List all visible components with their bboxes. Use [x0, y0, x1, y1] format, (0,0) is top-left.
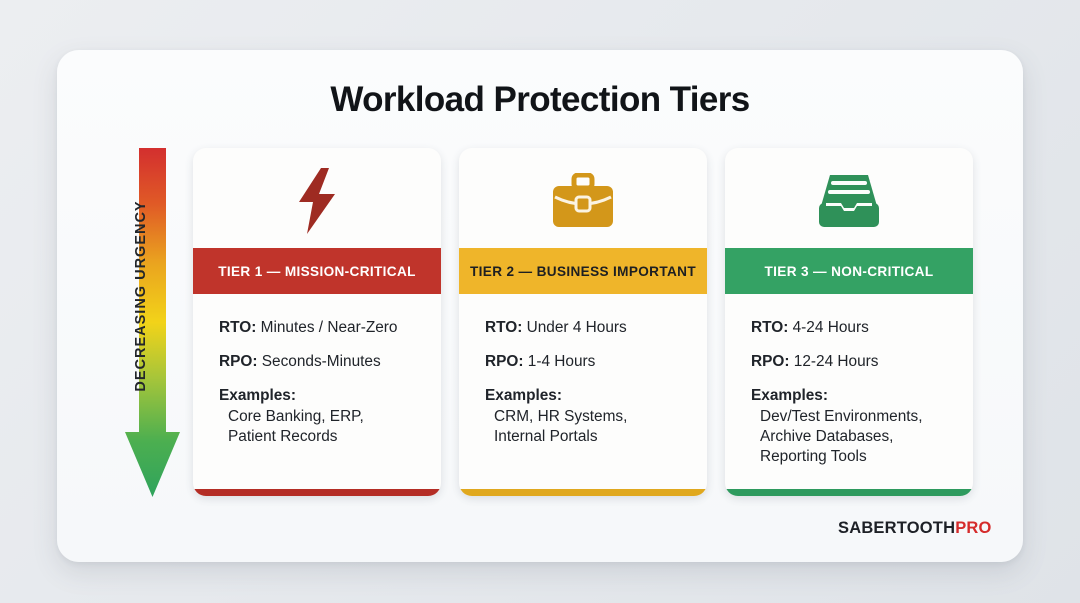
- tier-1-header: TIER 1 — MISSION-CRITICAL: [193, 248, 441, 294]
- tier-3-header: TIER 3 — NON-CRITICAL: [725, 248, 973, 294]
- tier-2-body: RTO: Under 4 Hours RPO: 1-4 Hours Exampl…: [459, 294, 707, 489]
- tier-3-body: RTO: 4-24 Hours RPO: 12-24 Hours Example…: [725, 294, 973, 489]
- tier-1-example-line: Core Banking, ERP,: [219, 407, 441, 427]
- logo-accent: PRO: [955, 519, 991, 537]
- rto-label: RTO:: [485, 319, 522, 336]
- tier-3-rto-row: RTO: 4-24 Hours: [751, 318, 973, 337]
- rpo-label: RPO:: [751, 353, 789, 370]
- tier-2-rto-value: Under 4 Hours: [527, 319, 627, 336]
- examples-label: Examples:: [751, 387, 973, 405]
- tier-3-rpo-value: 12-24 Hours: [794, 353, 879, 370]
- page-title: Workload Protection Tiers: [0, 80, 1080, 120]
- lightning-bolt-icon: [291, 168, 343, 234]
- rpo-label: RPO:: [219, 353, 257, 370]
- tier-2-rpo-value: 1-4 Hours: [528, 353, 596, 370]
- tier-card-3[interactable]: TIER 3 — NON-CRITICAL RTO: 4-24 Hours RP…: [725, 148, 973, 496]
- tier-2-rto-row: RTO: Under 4 Hours: [485, 318, 707, 337]
- tier-3-accent-strip: [725, 489, 973, 496]
- tier-3-example-line: Archive Databases,: [751, 427, 973, 447]
- tier-1-example-line: Patient Records: [219, 427, 441, 447]
- decreasing-urgency-arrow: DECREASING URGENCY: [95, 148, 190, 500]
- tier-3-example-line: Reporting Tools: [751, 447, 973, 467]
- rpo-label: RPO:: [485, 353, 523, 370]
- tier-2-rpo-row: RPO: 1-4 Hours: [485, 352, 707, 371]
- infographic-canvas: Workload Protection Tiers DECREASING URG…: [0, 0, 1080, 603]
- tier-3-rto-value: 4-24 Hours: [793, 319, 869, 336]
- tier-1-body: RTO: Minutes / Near-Zero RPO: Seconds-Mi…: [193, 294, 441, 489]
- arrow-label: DECREASING URGENCY: [133, 166, 149, 426]
- briefcase-icon: [551, 173, 615, 229]
- tier-2-icon-area: [459, 148, 707, 248]
- rto-label: RTO:: [751, 319, 788, 336]
- brand-logo: SABERTOOTHPRO: [838, 519, 992, 538]
- tier-3-example-line: Dev/Test Environments,: [751, 407, 973, 427]
- tier-card-2[interactable]: TIER 2 — BUSINESS IMPORTANT RTO: Under 4…: [459, 148, 707, 496]
- tier-1-rpo-value: Seconds-Minutes: [262, 353, 381, 370]
- tier-2-example-line: Internal Portals: [485, 427, 707, 447]
- rto-label: RTO:: [219, 319, 256, 336]
- tier-card-1[interactable]: TIER 1 — MISSION-CRITICAL RTO: Minutes /…: [193, 148, 441, 496]
- tier-2-example-line: CRM, HR Systems,: [485, 407, 707, 427]
- tier-1-rpo-row: RPO: Seconds-Minutes: [219, 352, 441, 371]
- examples-label: Examples:: [219, 387, 441, 405]
- examples-label: Examples:: [485, 387, 707, 405]
- tier-3-icon-area: [725, 148, 973, 248]
- tier-1-icon-area: [193, 148, 441, 248]
- archive-tray-icon: [817, 173, 881, 229]
- tier-1-rto-row: RTO: Minutes / Near-Zero: [219, 318, 441, 337]
- tier-1-rto-value: Minutes / Near-Zero: [261, 319, 398, 336]
- tier-3-rpo-row: RPO: 12-24 Hours: [751, 352, 973, 371]
- tier-2-header: TIER 2 — BUSINESS IMPORTANT: [459, 248, 707, 294]
- logo-primary: SABERTOOTH: [838, 519, 955, 537]
- tier-1-accent-strip: [193, 489, 441, 496]
- tier-2-accent-strip: [459, 489, 707, 496]
